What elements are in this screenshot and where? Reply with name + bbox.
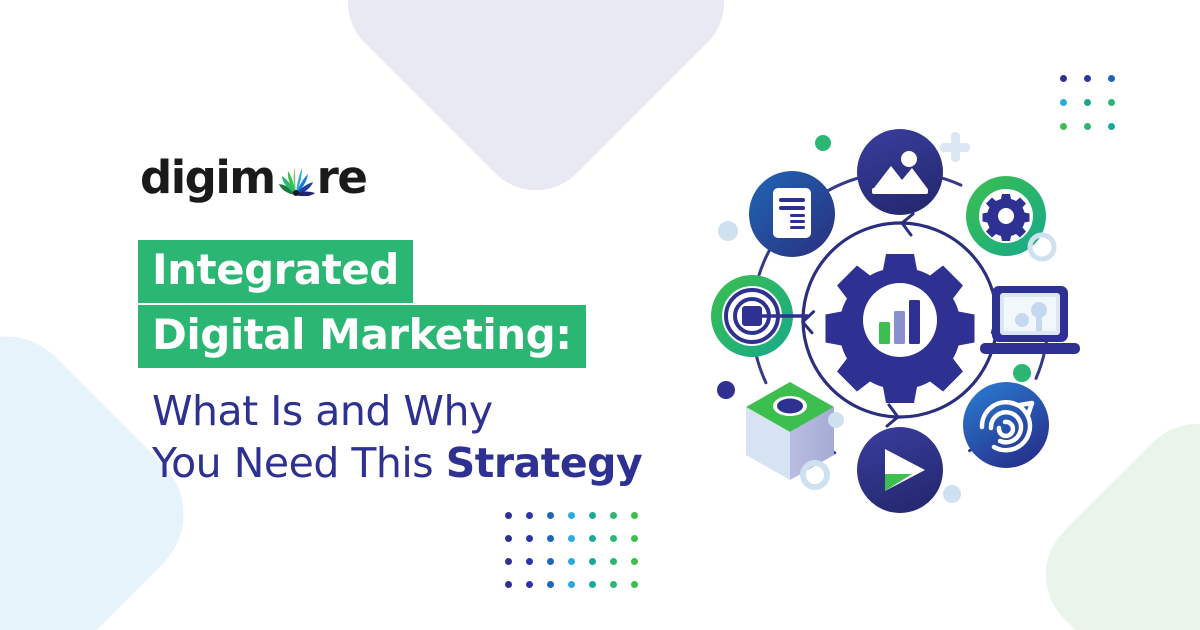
- grid-dot: [589, 581, 596, 588]
- accent-dot: [717, 381, 735, 399]
- grid-dot: [547, 512, 554, 519]
- headline-subtitle-bold: Strategy: [446, 439, 643, 487]
- grid-dot: [631, 512, 638, 519]
- grid-dot: [1108, 99, 1115, 106]
- accent-dot: [828, 412, 844, 428]
- grid-dot: [1108, 75, 1115, 82]
- accent-dot: [943, 485, 961, 503]
- headline-subtitle: What Is and Why You Need This Strategy: [152, 385, 642, 490]
- grid-dot: [631, 558, 638, 565]
- accent-ring: [803, 463, 827, 487]
- dot-grid-bottom: [505, 512, 652, 604]
- peacock-fan-icon: [276, 162, 316, 196]
- grid-dot: [568, 558, 575, 565]
- marketing-banner: digim re Integrated: [0, 0, 1200, 630]
- headline-highlight-row-2: Digital Marketing:: [138, 305, 642, 368]
- grid-dot: [505, 512, 512, 519]
- image-icon: [857, 129, 943, 215]
- grid-dot: [1060, 99, 1067, 106]
- laptop-icon: [980, 286, 1080, 354]
- grid-dot: [547, 581, 554, 588]
- grid-dot: [1084, 75, 1091, 82]
- logo-text-right: re: [317, 155, 367, 200]
- headline-highlight-2: Digital Marketing:: [138, 305, 586, 368]
- grid-dot: [505, 558, 512, 565]
- accent-dot: [1013, 364, 1031, 382]
- chart-bar-2: [894, 311, 905, 344]
- grid-dot: [610, 512, 617, 519]
- grid-dot: [547, 558, 554, 565]
- document-icon: [749, 171, 835, 257]
- accent-plus: [940, 132, 970, 162]
- rings-target-icon: [711, 275, 808, 357]
- grid-dot: [1060, 75, 1067, 82]
- grid-dot: [589, 535, 596, 542]
- headline-subtitle-line-2: You Need This Strategy: [152, 437, 642, 489]
- grid-dot: [568, 512, 575, 519]
- decor-diamond-top: [324, 0, 748, 214]
- chart-bar-1: [879, 322, 890, 344]
- grid-dot: [505, 535, 512, 542]
- gear-chart-icon: [826, 254, 975, 403]
- accent-dot: [815, 135, 831, 151]
- headline-block: Integrated Digital Marketing: What Is an…: [138, 240, 642, 490]
- grid-dot: [631, 581, 638, 588]
- grid-dot: [631, 535, 638, 542]
- grid-dot: [610, 535, 617, 542]
- grid-dot: [568, 535, 575, 542]
- grid-dot: [526, 535, 533, 542]
- headline-highlight-row-1: Integrated: [138, 240, 642, 303]
- grid-dot: [610, 581, 617, 588]
- grid-dot: [568, 581, 575, 588]
- headline-subtitle-line-1: What Is and Why: [152, 385, 642, 437]
- grid-dot: [526, 581, 533, 588]
- accent-dot: [718, 221, 738, 241]
- target-spiral-icon: [963, 382, 1049, 468]
- chart-bar-3: [909, 300, 920, 344]
- play-video-icon: [857, 427, 943, 513]
- grid-dot: [526, 512, 533, 519]
- grid-dot: [547, 535, 554, 542]
- grid-dot: [610, 558, 617, 565]
- grid-dot: [589, 558, 596, 565]
- brand-logo[interactable]: digim re: [140, 155, 366, 200]
- grid-dot: [526, 558, 533, 565]
- digital-marketing-cycle-diagram: [690, 110, 1110, 530]
- grid-dot: [589, 512, 596, 519]
- accent-ring: [1030, 235, 1054, 259]
- headline-highlight-1: Integrated: [138, 240, 413, 303]
- grid-dot: [505, 581, 512, 588]
- logo-text-left: digim: [140, 155, 275, 200]
- settings-gear-icon: [966, 176, 1046, 256]
- headline-subtitle-normal: You Need This: [152, 439, 446, 487]
- grid-dot: [1084, 99, 1091, 106]
